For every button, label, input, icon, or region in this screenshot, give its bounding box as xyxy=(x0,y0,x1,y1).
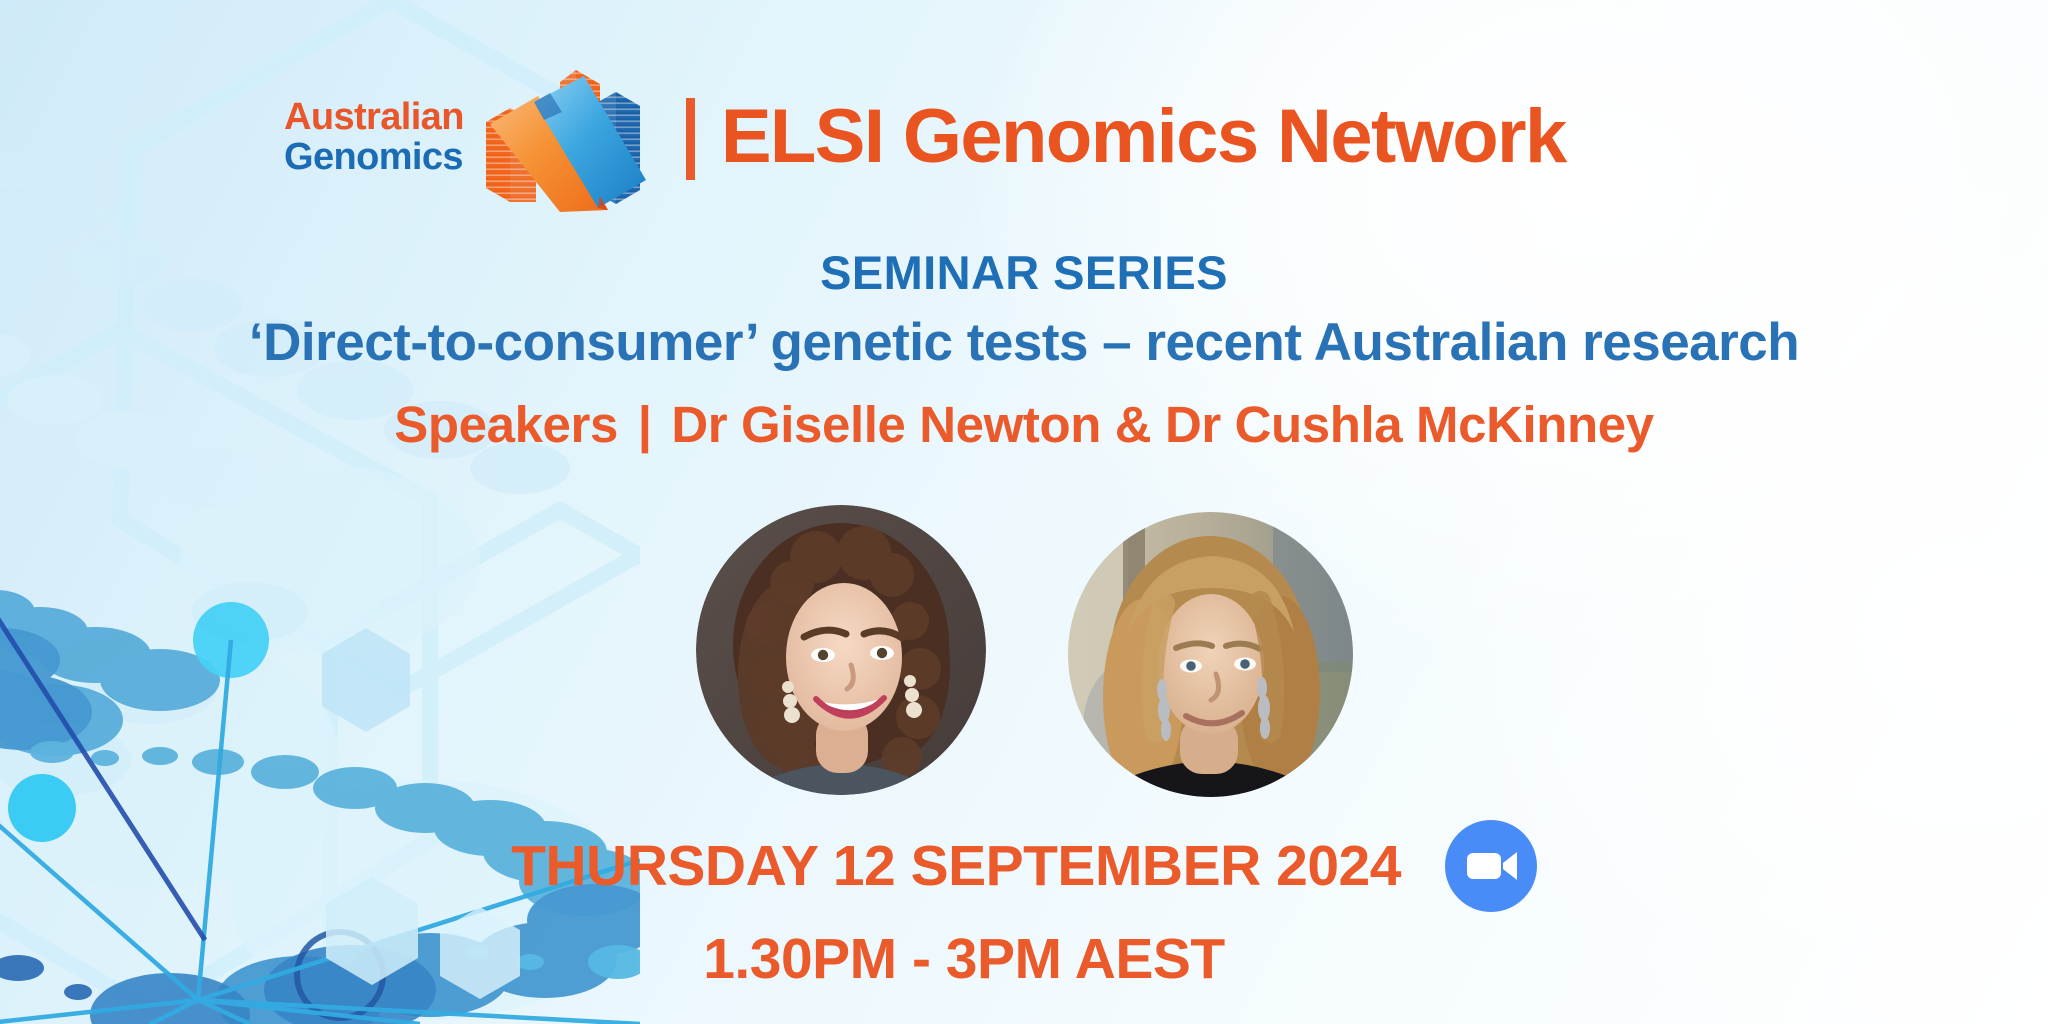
portrait-giselle-newton xyxy=(696,505,986,795)
event-date: THURSDAY 12 SEPTEMBER 2024 xyxy=(511,833,1401,899)
seminar-series-label: SEMINAR SERIES xyxy=(0,245,2048,300)
speakers-separator: | xyxy=(632,396,658,453)
event-datetime-block: THURSDAY 12 SEPTEMBER 2024 1.30PM - 3PM … xyxy=(0,820,2048,992)
speakers-names: Dr Giselle Newton & Dr Cushla McKinney xyxy=(671,396,1653,453)
australian-genomics-logo: Australian Genomics xyxy=(284,62,652,212)
page-title: ELSI Genomics Network xyxy=(721,99,1566,175)
speakers-label: Speakers xyxy=(394,396,618,453)
seminar-subtitle: ‘Direct-to-consumer’ genetic tests – rec… xyxy=(0,312,2048,373)
wordmark-line-genomics: Genomics xyxy=(284,138,464,176)
speakers-line: Speakers | Dr Giselle Newton & Dr Cushla… xyxy=(0,395,2048,454)
header-branding-row: Australian Genomics xyxy=(284,62,1566,212)
portrait-cushla-mckinney xyxy=(1068,512,1353,797)
zoom-icon[interactable] xyxy=(1445,820,1537,912)
speaker-portrait-row xyxy=(0,505,2048,797)
title-block: ELSI Genomics Network xyxy=(686,94,1566,180)
event-time: 1.30PM - 3PM AEST xyxy=(0,926,2048,992)
australian-genomics-wordmark: Australian Genomics xyxy=(284,98,464,176)
wordmark-line-australian: Australian xyxy=(284,98,464,136)
title-divider-bar xyxy=(686,98,695,180)
australian-genomics-n-mark xyxy=(480,62,652,212)
date-row: THURSDAY 12 SEPTEMBER 2024 xyxy=(0,820,2048,912)
